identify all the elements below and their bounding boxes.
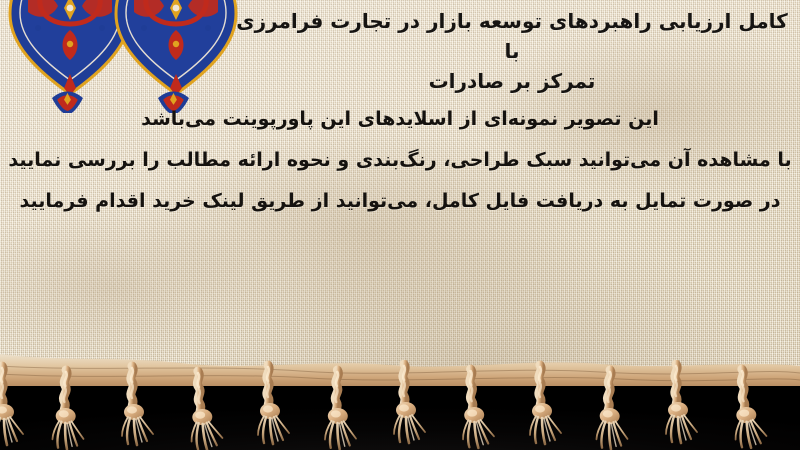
body-line-3: در صورت تمایل به دریافت فایل کامل، می‌تو… [0, 192, 800, 211]
body-line-2: با مشاهده آن می‌توانید سبک طراحی، رنگ‌بن… [0, 151, 800, 170]
presentation-slide: کامل ارزیابی راهبردهای توسعه بازار در تج… [0, 0, 800, 450]
carpet-black-border [0, 372, 800, 450]
slide-body-text: این تصویر نمونه‌ای از اسلایدهای این پاور… [0, 110, 800, 233]
slide-text-layer: کامل ارزیابی راهبردهای توسعه بازار در تج… [0, 0, 800, 378]
slide-title-line-1: کامل ارزیابی راهبردهای توسعه بازار در تج… [236, 9, 788, 63]
slide-title: کامل ارزیابی راهبردهای توسعه بازار در تج… [232, 6, 792, 96]
slide-title-line-2: تمرکز بر صادرات [429, 69, 596, 93]
body-line-1: این تصویر نمونه‌ای از اسلایدهای این پاور… [0, 110, 800, 129]
